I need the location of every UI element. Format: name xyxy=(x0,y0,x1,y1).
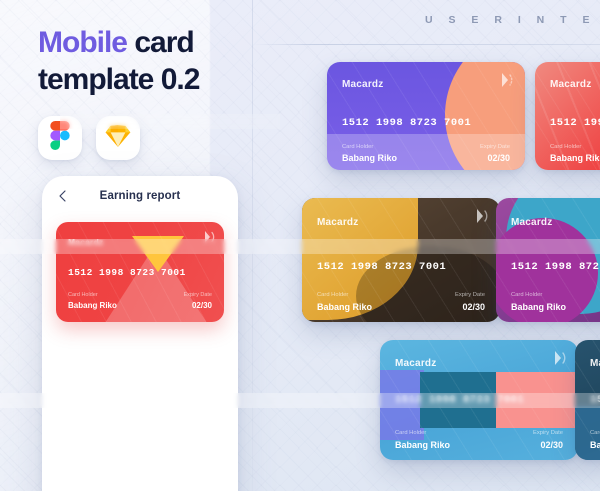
card-holder-name: Babang Riko xyxy=(342,153,397,163)
tool-badges xyxy=(38,116,140,160)
card-holder-label: Card Holder xyxy=(511,292,542,298)
title-line1-rest: card xyxy=(127,26,194,59)
card-holder-label: Card Holder xyxy=(590,430,600,436)
card-expiry-label: Expiry Date xyxy=(480,144,510,150)
card-number: 1512 1998 8723 7001 xyxy=(590,394,600,406)
card-number: 1512 1998 8723 7001 xyxy=(511,261,600,273)
card-holder-name: Babang Riko xyxy=(68,301,117,310)
card-expiry-value: 02/30 xyxy=(462,302,485,312)
card-expiry-value: 02/30 xyxy=(540,440,563,450)
title-line2: template 0.2 xyxy=(38,61,268,98)
card-holder-label: Card Holder xyxy=(317,292,348,298)
card-holder-name: Babang Riko xyxy=(317,302,372,312)
contactless-icon xyxy=(554,350,567,371)
design-canvas: U S E R I N T E Mobile card template 0.2 xyxy=(0,0,600,491)
title-accent-word: Mobile xyxy=(38,26,127,59)
phone-mockup: Earning report Macardz 1512 1998 8723 70… xyxy=(42,176,238,491)
card-holder-name: Babang Riko xyxy=(395,440,450,450)
sketch-icon xyxy=(105,124,131,153)
header-kicker: U S E R I N T E xyxy=(425,14,596,26)
card-holder-label: Card Holder xyxy=(342,144,373,150)
card-expiry-value: 02/30 xyxy=(487,153,510,163)
card-number: 1512 1998 8723 7001 xyxy=(317,261,446,273)
card-brand: Macardz xyxy=(511,217,552,228)
card-footer-overlay xyxy=(327,134,525,170)
card-holder-name: Babang Riko xyxy=(550,153,600,163)
card-holder-label: Card Holder xyxy=(550,144,581,150)
card-number: 1512 1998 8723 7001 xyxy=(342,117,471,129)
phone-header-title: Earning report xyxy=(42,190,238,202)
sketch-badge[interactable] xyxy=(96,116,140,160)
card-expiry-value: 02/30 xyxy=(192,301,212,310)
card-brand: Macardz xyxy=(342,79,383,90)
card-brand: Macardz xyxy=(550,79,591,90)
credit-card-navy[interactable]: Macardz 1512 1998 8723 7001 Card Holder … xyxy=(575,340,600,460)
contactless-icon xyxy=(476,208,489,229)
card-holder-name: Babang Riko xyxy=(511,302,566,312)
phone-header: Earning report xyxy=(42,176,238,216)
card-expiry-label: Expiry Date xyxy=(455,292,485,298)
card-number: 1512 1998 8723 7001 xyxy=(68,267,186,278)
card-holder-name: Babang Riko xyxy=(590,440,600,450)
card-expiry-label: Expiry Date xyxy=(533,430,563,436)
card-brand: Macardz xyxy=(395,358,436,369)
contactless-icon xyxy=(501,72,514,93)
card-brand: Macardz xyxy=(317,217,358,228)
card-number: 1512 1998 8723 7001 xyxy=(395,394,524,406)
credit-card-purple-teal[interactable]: Macardz 1512 1998 8723 7001 Card Holder … xyxy=(496,198,600,322)
figma-badge[interactable] xyxy=(38,116,82,160)
credit-card-red[interactable]: Macardz 1512 1998 8723 7001 Card Holder … xyxy=(535,62,600,170)
card-expiry-label: Expiry Date xyxy=(184,292,212,298)
card-holder-label: Card Holder xyxy=(395,430,426,436)
credit-card-blue-pink[interactable]: Macardz 1512 1998 8723 7001 Card Holder … xyxy=(380,340,578,460)
page-title: Mobile card template 0.2 xyxy=(38,24,268,98)
contactless-icon xyxy=(204,230,216,249)
credit-card-purple-peach[interactable]: Macardz 1512 1998 8723 7001 Card Holder … xyxy=(327,62,525,170)
card-number: 1512 1998 8723 7001 xyxy=(550,117,600,129)
credit-card-brown-gold[interactable]: Macardz 1512 1998 8723 7001 Card Holder … xyxy=(302,198,500,322)
phone-credit-card[interactable]: Macardz 1512 1998 8723 7001 Card Holder … xyxy=(56,222,224,322)
card-brand: Macardz xyxy=(68,237,103,247)
header-divider xyxy=(252,44,600,45)
card-holder-label: Card Holder xyxy=(68,292,98,298)
card-brand: Macardz xyxy=(590,358,600,369)
figma-icon xyxy=(50,121,70,155)
